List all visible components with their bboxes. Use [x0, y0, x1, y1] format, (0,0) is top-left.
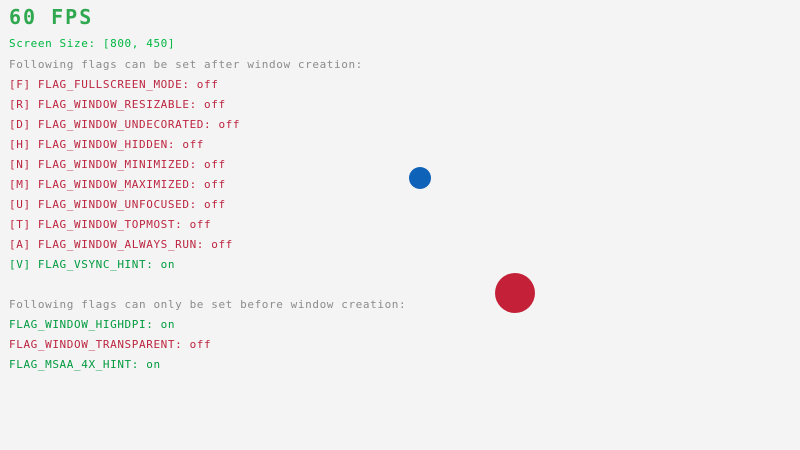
- flag-row[interactable]: FLAG_WINDOW_HIGHDPI: on: [9, 318, 175, 331]
- flag-row[interactable]: [D] FLAG_WINDOW_UNDECORATED: off: [9, 118, 240, 131]
- before-creation-note: Following flags can only be set before w…: [9, 298, 406, 311]
- flag-row[interactable]: FLAG_WINDOW_TRANSPARENT: off: [9, 338, 211, 351]
- flag-row[interactable]: [H] FLAG_WINDOW_HIDDEN: off: [9, 138, 204, 151]
- app-window: 60 FPS Screen Size: [800, 450] Following…: [0, 0, 800, 450]
- flag-row[interactable]: [A] FLAG_WINDOW_ALWAYS_RUN: off: [9, 238, 233, 251]
- flag-row[interactable]: [T] FLAG_WINDOW_TOPMOST: off: [9, 218, 211, 231]
- flag-row[interactable]: [V] FLAG_VSYNC_HINT: on: [9, 258, 175, 271]
- flag-row[interactable]: [N] FLAG_WINDOW_MINIMIZED: off: [9, 158, 226, 171]
- flag-row[interactable]: [F] FLAG_FULLSCREEN_MODE: off: [9, 78, 218, 91]
- screen-size-label: Screen Size: [800, 450]: [9, 37, 175, 50]
- flag-row[interactable]: [R] FLAG_WINDOW_RESIZABLE: off: [9, 98, 226, 111]
- flag-row[interactable]: FLAG_MSAA_4X_HINT: on: [9, 358, 161, 371]
- flag-row[interactable]: [M] FLAG_WINDOW_MAXIMIZED: off: [9, 178, 226, 191]
- red-circle: [495, 273, 535, 313]
- after-creation-note: Following flags can be set after window …: [9, 58, 363, 71]
- flag-row[interactable]: [U] FLAG_WINDOW_UNFOCUSED: off: [9, 198, 226, 211]
- fps-counter: 60 FPS: [9, 6, 93, 28]
- blue-circle: [409, 167, 431, 189]
